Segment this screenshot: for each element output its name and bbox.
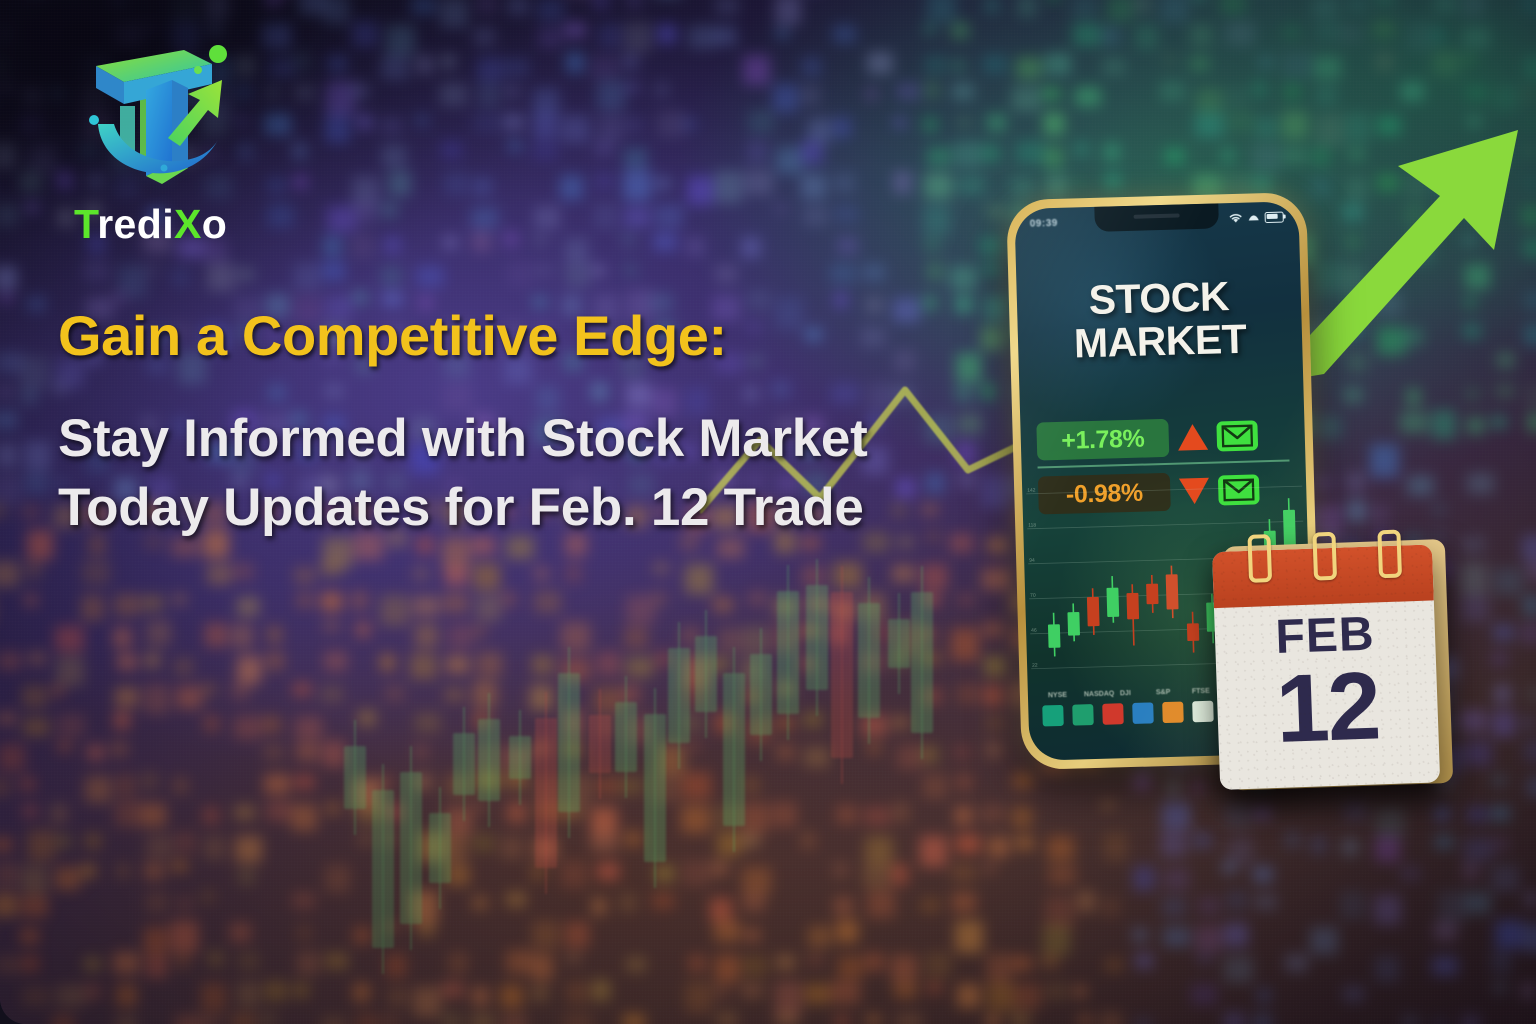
swatch-label: S&P: [1156, 689, 1171, 696]
color-swatch[interactable]: [1102, 703, 1124, 725]
swatch-label: DJI: [1120, 690, 1131, 697]
svg-text:46: 46: [1031, 628, 1037, 634]
headline-eyebrow: Gain a Competitive Edge:: [58, 306, 968, 365]
status-time: 09:39: [1030, 217, 1058, 229]
wordmark-o: o: [202, 201, 227, 247]
calendar-front-page: FEB 12: [1212, 544, 1440, 790]
svg-text:70: 70: [1030, 593, 1036, 599]
color-swatch[interactable]: [1042, 705, 1064, 727]
svg-text:94: 94: [1029, 558, 1035, 564]
wordmark-x: X: [174, 201, 202, 247]
screen-title: STOCK MARKET: [1016, 273, 1302, 368]
headline-block: Gain a Competitive Edge: Stay Informed w…: [58, 306, 968, 543]
brand-logo[interactable]: TrediXo: [72, 28, 322, 253]
color-swatch[interactable]: [1192, 701, 1214, 723]
ticker-value-up: +1.78%: [1036, 419, 1169, 461]
screen-title-line-2: MARKET: [1018, 317, 1303, 368]
color-swatch[interactable]: [1132, 702, 1154, 724]
status-icons: [1229, 211, 1284, 224]
svg-text:142: 142: [1027, 488, 1036, 494]
subtitle-line-2: Today Updates for Feb. 12 Trade: [58, 474, 968, 543]
calendar-widget: FEB 12: [1212, 534, 1453, 794]
wordmark-t: T: [74, 201, 97, 247]
wordmark-redi: redi: [97, 201, 174, 247]
wifi-icon: [1229, 212, 1243, 223]
brand-wordmark: TrediXo: [74, 204, 227, 245]
arrow-up-right-icon: [1272, 118, 1532, 386]
svg-text:22: 22: [1032, 663, 1038, 669]
trendix-3d-t-logo: [72, 28, 242, 198]
triangle-up-icon: [1177, 424, 1208, 451]
envelope-icon[interactable]: [1216, 420, 1258, 451]
ticker-row-up[interactable]: +1.78%: [1036, 412, 1289, 465]
headline-subtitle: Stay Informed with Stock Market Today Up…: [58, 405, 968, 543]
battery-icon: [1265, 211, 1284, 223]
swatch-label: FTSE: [1192, 688, 1210, 695]
signal-icon: [1248, 212, 1260, 222]
svg-text:118: 118: [1028, 523, 1036, 529]
subtitle-line-1: Stay Informed with Stock Market: [58, 405, 968, 474]
color-swatch[interactable]: [1072, 704, 1094, 726]
marketing-banner: TrediXo Gain a Competitive Edge: Stay In…: [0, 0, 1536, 1024]
spiral-ring-icon: [1211, 528, 1432, 582]
color-swatch[interactable]: [1162, 702, 1184, 724]
calendar-day: 12: [1216, 658, 1439, 758]
swatch-label: NASDAQ: [1084, 690, 1115, 698]
swatch-label: NYSE: [1048, 692, 1067, 700]
